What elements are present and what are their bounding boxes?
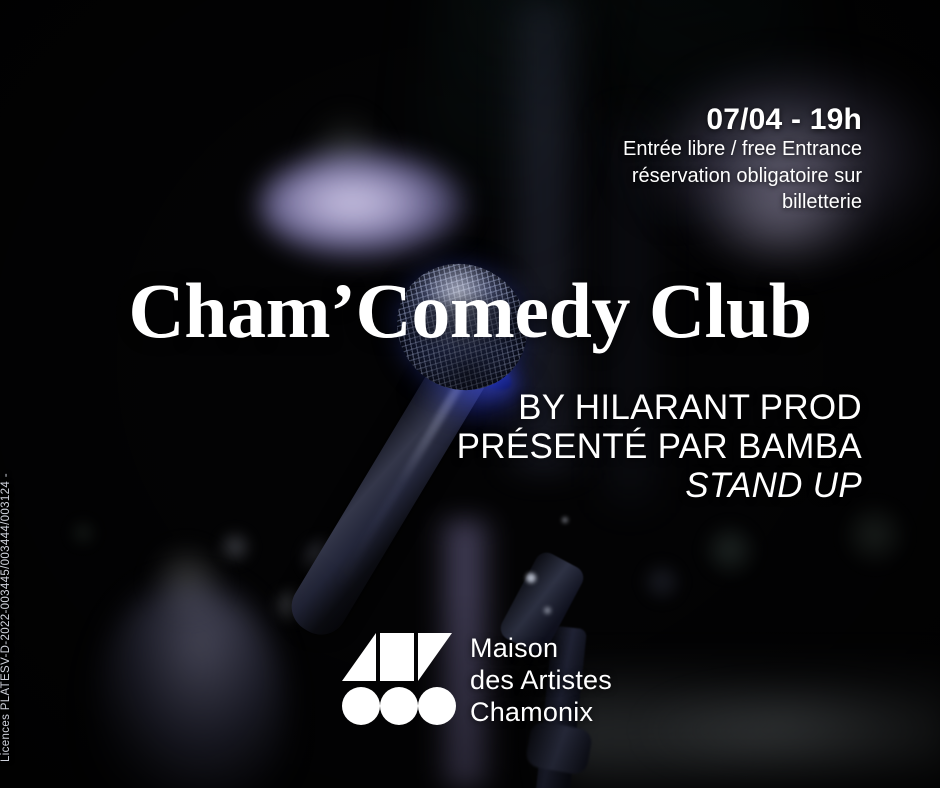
audience-silhouette: [95, 585, 285, 788]
microphone-specular: [562, 517, 568, 523]
floor-light-band-core: [640, 690, 940, 770]
bokeh-dot: [218, 530, 252, 564]
event-poster: 07/04 - 19h Entrée libre / free Entrance…: [0, 0, 940, 788]
venue-name: Maison des Artistes Chamonix: [470, 633, 612, 729]
bokeh-dot: [70, 520, 96, 546]
logo-flag-right: [418, 633, 452, 681]
entrance-info-line-2: réservation obligatoire sur: [442, 163, 862, 189]
date-info-block: 07/04 - 19h Entrée libre / free Entrance…: [442, 104, 862, 216]
logo-notehead-right: [418, 687, 456, 725]
logo-notehead-middle: [380, 687, 418, 725]
venue-name-line-3: Chamonix: [470, 697, 612, 729]
bokeh-dot: [840, 500, 910, 570]
licences-text: Licences PLATESV-D-2022-003445/003444/00…: [0, 473, 12, 762]
credits-block: BY HILARANT PROD PRÉSENTÉ PAR BAMBA STAN…: [342, 388, 862, 506]
event-title: Cham’Comedy Club: [0, 272, 940, 350]
logo-flag-left: [342, 633, 376, 681]
venue-name-line-1: Maison: [470, 633, 612, 665]
credit-genre: STAND UP: [342, 466, 862, 505]
credit-host: PRÉSENTÉ PAR BAMBA: [342, 427, 862, 466]
logo-notehead-left: [342, 687, 380, 725]
music-note-logo-mark: [342, 633, 454, 725]
event-date-time: 07/04 - 19h: [442, 104, 862, 136]
logo-flag-middle: [380, 633, 414, 681]
bokeh-lamp-light: [258, 150, 468, 260]
venue-logo: Maison des Artistes Chamonix: [342, 633, 612, 729]
entrance-info-line-3: billetterie: [442, 189, 862, 215]
microphone-specular: [544, 607, 551, 614]
microphone-specular: [526, 573, 536, 583]
venue-name-line-2: des Artistes: [470, 665, 612, 697]
entrance-info-line-1: Entrée libre / free Entrance: [442, 136, 862, 162]
credit-producer: BY HILARANT PROD: [342, 388, 862, 427]
bokeh-dot: [700, 520, 760, 580]
